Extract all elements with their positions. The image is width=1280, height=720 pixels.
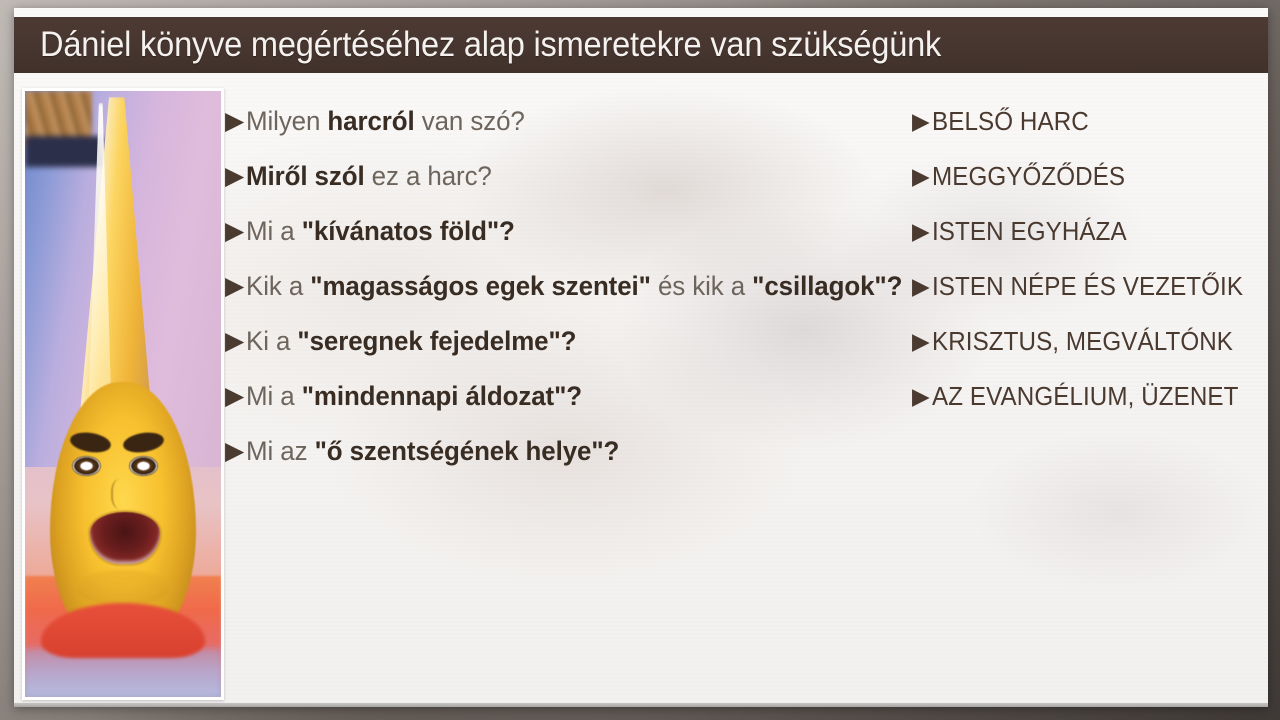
plain-text: van szó? <box>415 106 525 136</box>
question-item-label: Miről szól ez a harc? <box>246 149 492 204</box>
statue-photo <box>22 88 224 700</box>
triangle-bullet-icon: ▶ <box>225 274 244 299</box>
triangle-bullet-icon: ▶ <box>225 164 244 189</box>
slide-title-bar: Dániel könyve megértéséhez alap ismerete… <box>14 17 1268 73</box>
triangle-bullet-icon: ▶ <box>912 110 930 133</box>
emphasis-text: "seregnek fejedelme"? <box>298 326 577 356</box>
photo-dark-band-layer <box>25 136 103 166</box>
answer-item: ▶ISTEN NÉPE ÉS VEZETŐIK <box>912 259 1262 314</box>
emphasis-text: "ő szentségének helye"? <box>315 436 620 466</box>
answer-item-label: BELSŐ HARC <box>932 94 1089 149</box>
plain-text: ez a harc? <box>365 161 492 191</box>
triangle-bullet-icon: ▶ <box>225 109 244 134</box>
triangle-bullet-icon: ▶ <box>225 219 244 244</box>
answer-item-label: KRISZTUS, MEGVÁLTÓNK <box>932 314 1233 369</box>
answer-item: ▶ISTEN EGYHÁZA <box>912 204 1262 259</box>
plain-text: Mi a <box>246 216 302 246</box>
triangle-bullet-icon: ▶ <box>912 275 930 298</box>
plain-text: Kik a <box>246 271 310 301</box>
answer-item: ▶MEGGYŐZŐDÉS <box>912 149 1262 204</box>
answer-item: ▶KRISZTUS, MEGVÁLTÓNK <box>912 314 1262 369</box>
triangle-bullet-icon: ▶ <box>225 384 244 409</box>
emphasis-text: "mindennapi áldozat"? <box>302 381 582 411</box>
photo-open-mouth <box>90 512 161 564</box>
triangle-bullet-icon: ▶ <box>912 385 930 408</box>
question-list: ▶Milyen harcról van szó?▶Miről szól ez a… <box>225 94 915 479</box>
question-item-label: Mi a "kívánatos föld"? <box>246 204 515 259</box>
triangle-bullet-icon: ▶ <box>225 329 244 354</box>
question-item: ▶Mi a "mindennapi áldozat"? <box>225 369 915 424</box>
answer-item-label: AZ EVANGÉLIUM, ÜZENET <box>932 369 1238 424</box>
answer-item: ▶AZ EVANGÉLIUM, ÜZENET <box>912 369 1262 424</box>
answer-item-label: ISTEN NÉPE ÉS VEZETŐIK <box>932 259 1243 314</box>
slide-footer-strip <box>14 703 1268 707</box>
question-item: ▶Mi a "kívánatos föld"? <box>225 204 915 259</box>
plain-text: Milyen <box>246 106 327 136</box>
question-item-label: Ki a "seregnek fejedelme"? <box>246 314 576 369</box>
triangle-bullet-icon: ▶ <box>912 220 930 243</box>
presentation-slide: Dániel könyve megértéséhez alap ismerete… <box>14 8 1268 707</box>
emphasis-text: "magasságos egek szentei" <box>310 271 651 301</box>
emphasis-text: "csillagok"? <box>752 271 902 301</box>
question-item: ▶Ki a "seregnek fejedelme"? <box>225 314 915 369</box>
plain-text: Ki a <box>246 326 297 356</box>
question-item: ▶Milyen harcról van szó? <box>225 94 915 149</box>
page-title: Dániel könyve megértéséhez alap ismerete… <box>14 25 941 65</box>
plain-text: és kik a <box>651 271 752 301</box>
answer-item-label: ISTEN EGYHÁZA <box>932 204 1127 259</box>
emphasis-text: harcról <box>328 106 415 136</box>
question-item-label: Mi a "mindennapi áldozat"? <box>246 369 582 424</box>
question-item: ▶Kik a "magasságos egek szentei" és kik … <box>225 259 915 314</box>
triangle-bullet-icon: ▶ <box>912 330 930 353</box>
statue-photo-inner <box>25 91 221 697</box>
question-item-label: Milyen harcról van szó? <box>246 94 525 149</box>
answer-item: ▶BELSŐ HARC <box>912 94 1262 149</box>
emphasis-text: Miről szól <box>246 161 365 191</box>
triangle-bullet-icon: ▶ <box>912 165 930 188</box>
triangle-bullet-icon: ▶ <box>225 439 244 464</box>
question-item: ▶Mi az "ő szentségének helye"? <box>225 424 915 479</box>
plain-text: Mi az <box>246 436 315 466</box>
answer-item-label: MEGGYŐZŐDÉS <box>932 149 1125 204</box>
question-item-label: Kik a "magasságos egek szentei" és kik a… <box>246 259 902 314</box>
question-item-label: Mi az "ő szentségének helye"? <box>246 424 619 479</box>
plain-text: Mi a <box>246 381 302 411</box>
answer-list: ▶BELSŐ HARC▶MEGGYŐZŐDÉS▶ISTEN EGYHÁZA▶IS… <box>912 94 1262 424</box>
photo-chin <box>76 570 170 606</box>
question-item: ▶Miről szól ez a harc? <box>225 149 915 204</box>
emphasis-text: "kívánatos föld"? <box>302 216 515 246</box>
photo-nose <box>111 479 133 509</box>
